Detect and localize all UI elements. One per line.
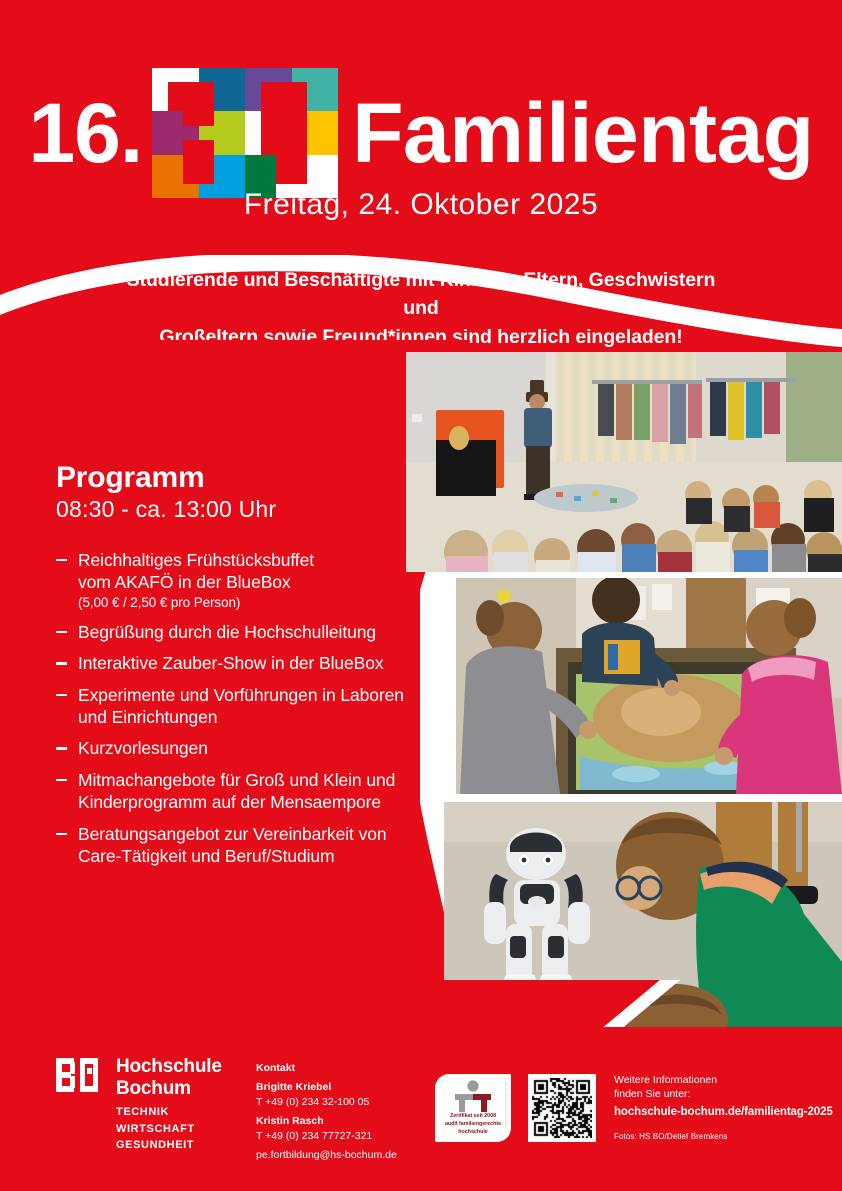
programme-item-text: Experimente und Vorführungen in Laborenu… — [78, 685, 404, 727]
programme-heading: Programm — [56, 462, 456, 494]
programme-list: Reichhaltiges Frühstücksbuffetvom AKAFÖ … — [56, 549, 456, 868]
contact-person-1: Brigitte Kriebel — [256, 1080, 397, 1095]
institution-line-2: Bochum — [116, 1078, 222, 1100]
programme-item-text: Begrüßung durch die Hochschulleitung — [78, 622, 376, 642]
contact-person-2: Kristin Rasch — [256, 1114, 397, 1129]
invitation-line-1: Studierende und Beschäftigte mit Kindern… — [120, 266, 722, 323]
certificate-text: Zertifikat seit 2008 audit familiengerec… — [435, 1112, 511, 1136]
bullet-dash-icon — [56, 559, 67, 562]
programme-item: Beratungsangebot zur Vereinbarkeit vonCa… — [56, 823, 456, 868]
contact-phone-1: T +49 (0) 234 32-100 05 — [256, 1095, 397, 1110]
edition-number: 16. — [28, 91, 142, 175]
bullet-dash-icon — [56, 747, 67, 750]
programme-item: Kurzvorlesungen — [56, 737, 456, 759]
bullet-dash-icon — [56, 694, 67, 697]
bullet-dash-icon — [56, 631, 67, 634]
certificate-line-2: audit familiengerechte — [435, 1120, 511, 1128]
programme-item: Reichhaltiges Frühstücksbuffetvom AKAFÖ … — [56, 549, 456, 612]
certificate-side-text: berufundfamilie Service GmbH — [504, 1082, 508, 1127]
programme-item: Begrüßung durch die Hochschulleitung — [56, 621, 456, 643]
info-url[interactable]: hochschule-bochum.de/familientag-2025 — [614, 1106, 834, 1118]
programme-item: Interaktive Zauber-Show in der BlueBox — [56, 652, 456, 674]
institution-name: Hochschule Bochum — [116, 1056, 222, 1101]
institution-line-1: Hochschule — [116, 1056, 222, 1078]
programme-block: Programm 08:30 - ca. 13:00 Uhr Reichhalt… — [56, 462, 456, 876]
footer-diagonal-wedge — [0, 980, 842, 1030]
poster-root: 16. — [0, 0, 842, 1191]
bullet-dash-icon — [56, 833, 67, 836]
programme-item-text: Mitmachangebote für Groß und Klein undKi… — [78, 770, 395, 812]
event-date: Freitag, 24. Oktober 2025 — [0, 188, 842, 222]
programme-item: Mitmachangebote für Groß und Klein undKi… — [56, 769, 456, 814]
programme-time: 08:30 - ca. 13:00 Uhr — [56, 496, 456, 523]
certificate-line-1: Zertifikat seit 2008 — [435, 1112, 511, 1120]
programme-item-text: Reichhaltiges Frühstücksbuffetvom AKAFÖ … — [78, 550, 314, 592]
programme-item-text: Kurzvorlesungen — [78, 738, 208, 758]
info-line-2: finden Sie unter: — [614, 1087, 834, 1101]
programme-item: Experimente und Vorführungen in Laborenu… — [56, 684, 456, 729]
programme-item-text: Interaktive Zauber-Show in der BlueBox — [78, 653, 384, 673]
bullet-dash-icon — [56, 662, 67, 665]
bo-wordmark-icon — [56, 1058, 106, 1092]
claim-line-1: TECHNIK — [116, 1104, 195, 1121]
info-line-1: Weitere Informationen — [614, 1073, 834, 1087]
contact-block: Kontakt Brigitte Kriebel T +49 (0) 234 3… — [256, 1061, 397, 1162]
invitation-text: Studierende und Beschäftigte mit Kindern… — [120, 266, 722, 351]
certificate-figure-icon — [451, 1080, 495, 1112]
institution-claim: TECHNIK WIRTSCHAFT GESUNDHEIT — [116, 1104, 195, 1154]
contact-phone-2: T +49 (0) 234 77727-321 — [256, 1129, 397, 1144]
bo-colour-logo — [152, 68, 338, 198]
audit-certificate-badge: Zertifikat seit 2008 audit familiengerec… — [435, 1074, 511, 1142]
claim-line-3: GESUNDHEIT — [116, 1137, 195, 1154]
claim-line-2: WIRTSCHAFT — [116, 1121, 195, 1138]
qr-code[interactable] — [528, 1074, 596, 1142]
more-info-block: Weitere Informationen finden Sie unter: … — [614, 1073, 834, 1141]
poster-title-row: 16. — [0, 78, 842, 188]
bullet-dash-icon — [56, 779, 67, 782]
photo-sandbox-experiment — [456, 578, 842, 794]
programme-item-text: Beratungsangebot zur Vereinbarkeit vonCa… — [78, 824, 387, 866]
page-title: Familientag — [352, 91, 813, 175]
info-lead: Weitere Informationen finden Sie unter: — [614, 1073, 834, 1102]
photo-magic-show — [406, 352, 842, 572]
certificate-line-3: hochschule — [435, 1128, 511, 1136]
photo-credit: Fotos: HS BO/Detlef Bremkens — [614, 1132, 834, 1141]
contact-heading: Kontakt — [256, 1061, 397, 1076]
programme-item-note: (5,00 € / 2,50 € pro Person) — [78, 594, 456, 612]
contact-email[interactable]: pe.fortbildung@hs-bochum.de — [256, 1148, 397, 1163]
